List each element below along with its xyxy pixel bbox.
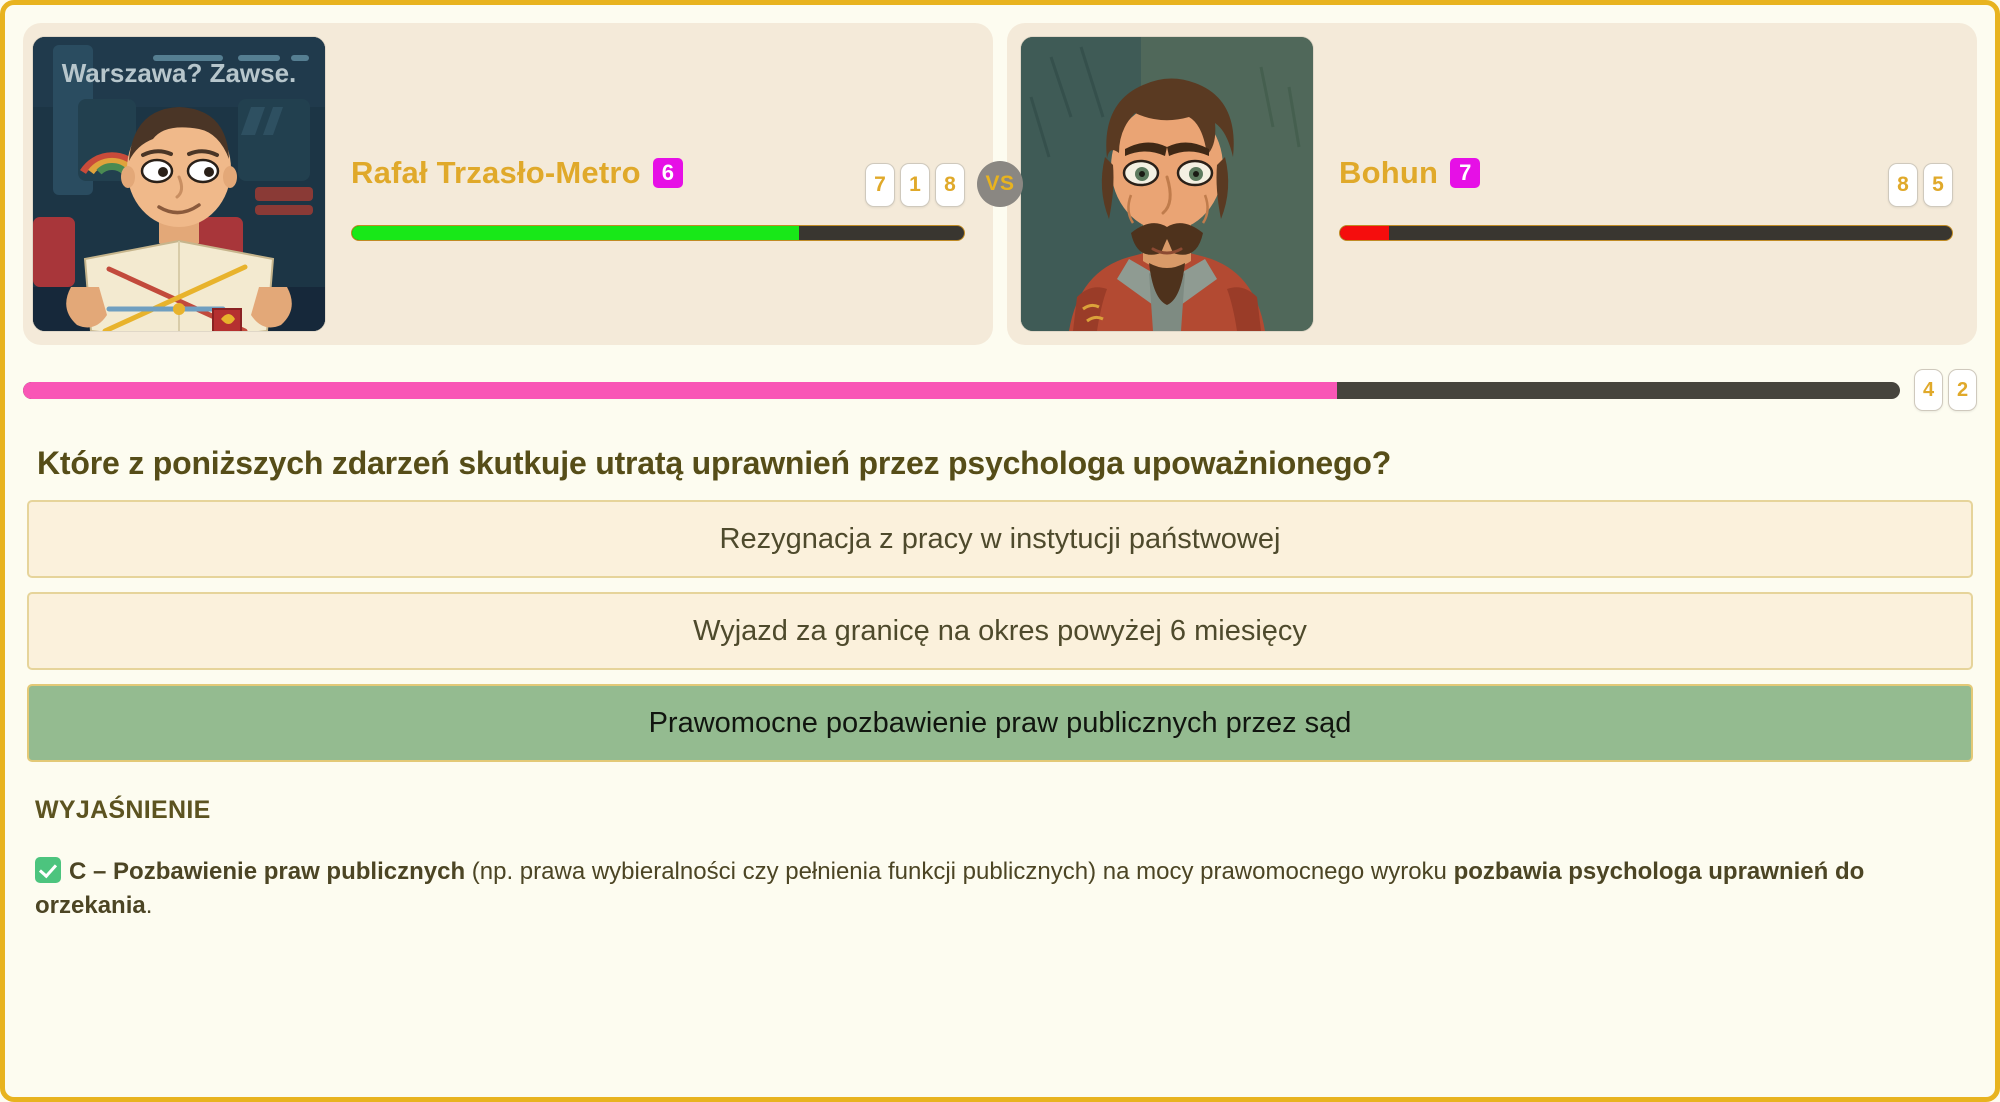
explanation-body: C – Pozbawienie praw publicznych (np. pr… (35, 855, 1965, 923)
chip[interactable]: 1 (900, 163, 930, 207)
answer-options: Rezygnacja z pracy w instytucji państwow… (5, 492, 1995, 762)
player-level-badge-right: 7 (1450, 158, 1480, 187)
chip[interactable]: 8 (1888, 163, 1918, 207)
player-chips-right: 8 5 (1888, 163, 1953, 207)
player-name-right: Bohun (1339, 155, 1438, 191)
player-chips-left: 7 1 8 (865, 163, 965, 207)
player-name-left: Rafał Trzasło-Metro (351, 155, 641, 191)
chip[interactable]: 4 (1914, 369, 1943, 411)
explanation-dash: – (86, 858, 113, 885)
svg-text:Warszawa? Zawse.: Warszawa? Zawse. (62, 58, 297, 88)
chip[interactable]: 7 (865, 163, 895, 207)
progress-bar-fill (23, 382, 1337, 399)
explanation-mid-text: (np. prawa wybieralności czy pełnienia f… (465, 858, 1453, 885)
answer-option-a[interactable]: Rezygnacja z pracy w instytucji państwow… (27, 500, 1973, 578)
player-info-left: Rafał Trzasło-Metro 6 7 1 8 (325, 37, 979, 331)
progress-bar (23, 382, 1900, 399)
timer-chips: 4 2 (1914, 369, 1977, 411)
check-icon (35, 857, 61, 883)
answer-option-b[interactable]: Wyjazd za granicę na okres powyżej 6 mie… (27, 592, 1973, 670)
answer-option-c[interactable]: Prawomocne pozbawienie praw publicznych … (27, 684, 1973, 762)
chip[interactable]: 5 (1923, 163, 1953, 207)
avatar-left: Warszawa? Zawse. (33, 37, 325, 331)
explanation-period: . (146, 892, 153, 919)
player-name-line-right: Bohun 7 (1339, 155, 1480, 191)
player-card-right[interactable]: Bohun 7 8 5 (1007, 23, 1977, 345)
health-bar-fill-left (352, 226, 799, 240)
vs-badge: VS (977, 161, 1023, 207)
health-bar-left (351, 225, 965, 241)
question-text: Które z poniższych zdarzeń skutkuje utra… (5, 417, 1995, 492)
answer-letter: C (69, 858, 86, 885)
player-name-line-left: Rafał Trzasło-Metro 6 (351, 155, 683, 191)
health-bar-right (1339, 225, 1953, 241)
health-bar-fill-right (1340, 226, 1389, 240)
avatar-right (1021, 37, 1313, 331)
chip[interactable]: 2 (1948, 369, 1977, 411)
quiz-duel-page: Warszawa? Zawse. (0, 0, 2000, 1102)
player-info-right: Bohun 7 8 5 (1313, 37, 1967, 331)
chip[interactable]: 8 (935, 163, 965, 207)
explanation-title: WYJAŚNIENIE (35, 796, 1965, 825)
explanation-section: WYJAŚNIENIE C – Pozbawienie praw publicz… (5, 776, 1995, 923)
player-level-badge-left: 6 (653, 158, 683, 187)
player-card-left[interactable]: Warszawa? Zawse. (23, 23, 993, 345)
explanation-bold-lead: Pozbawienie praw publicznych (113, 858, 465, 885)
timer-row: 4 2 (5, 355, 1995, 417)
duel-strip: Warszawa? Zawse. (5, 5, 1995, 355)
